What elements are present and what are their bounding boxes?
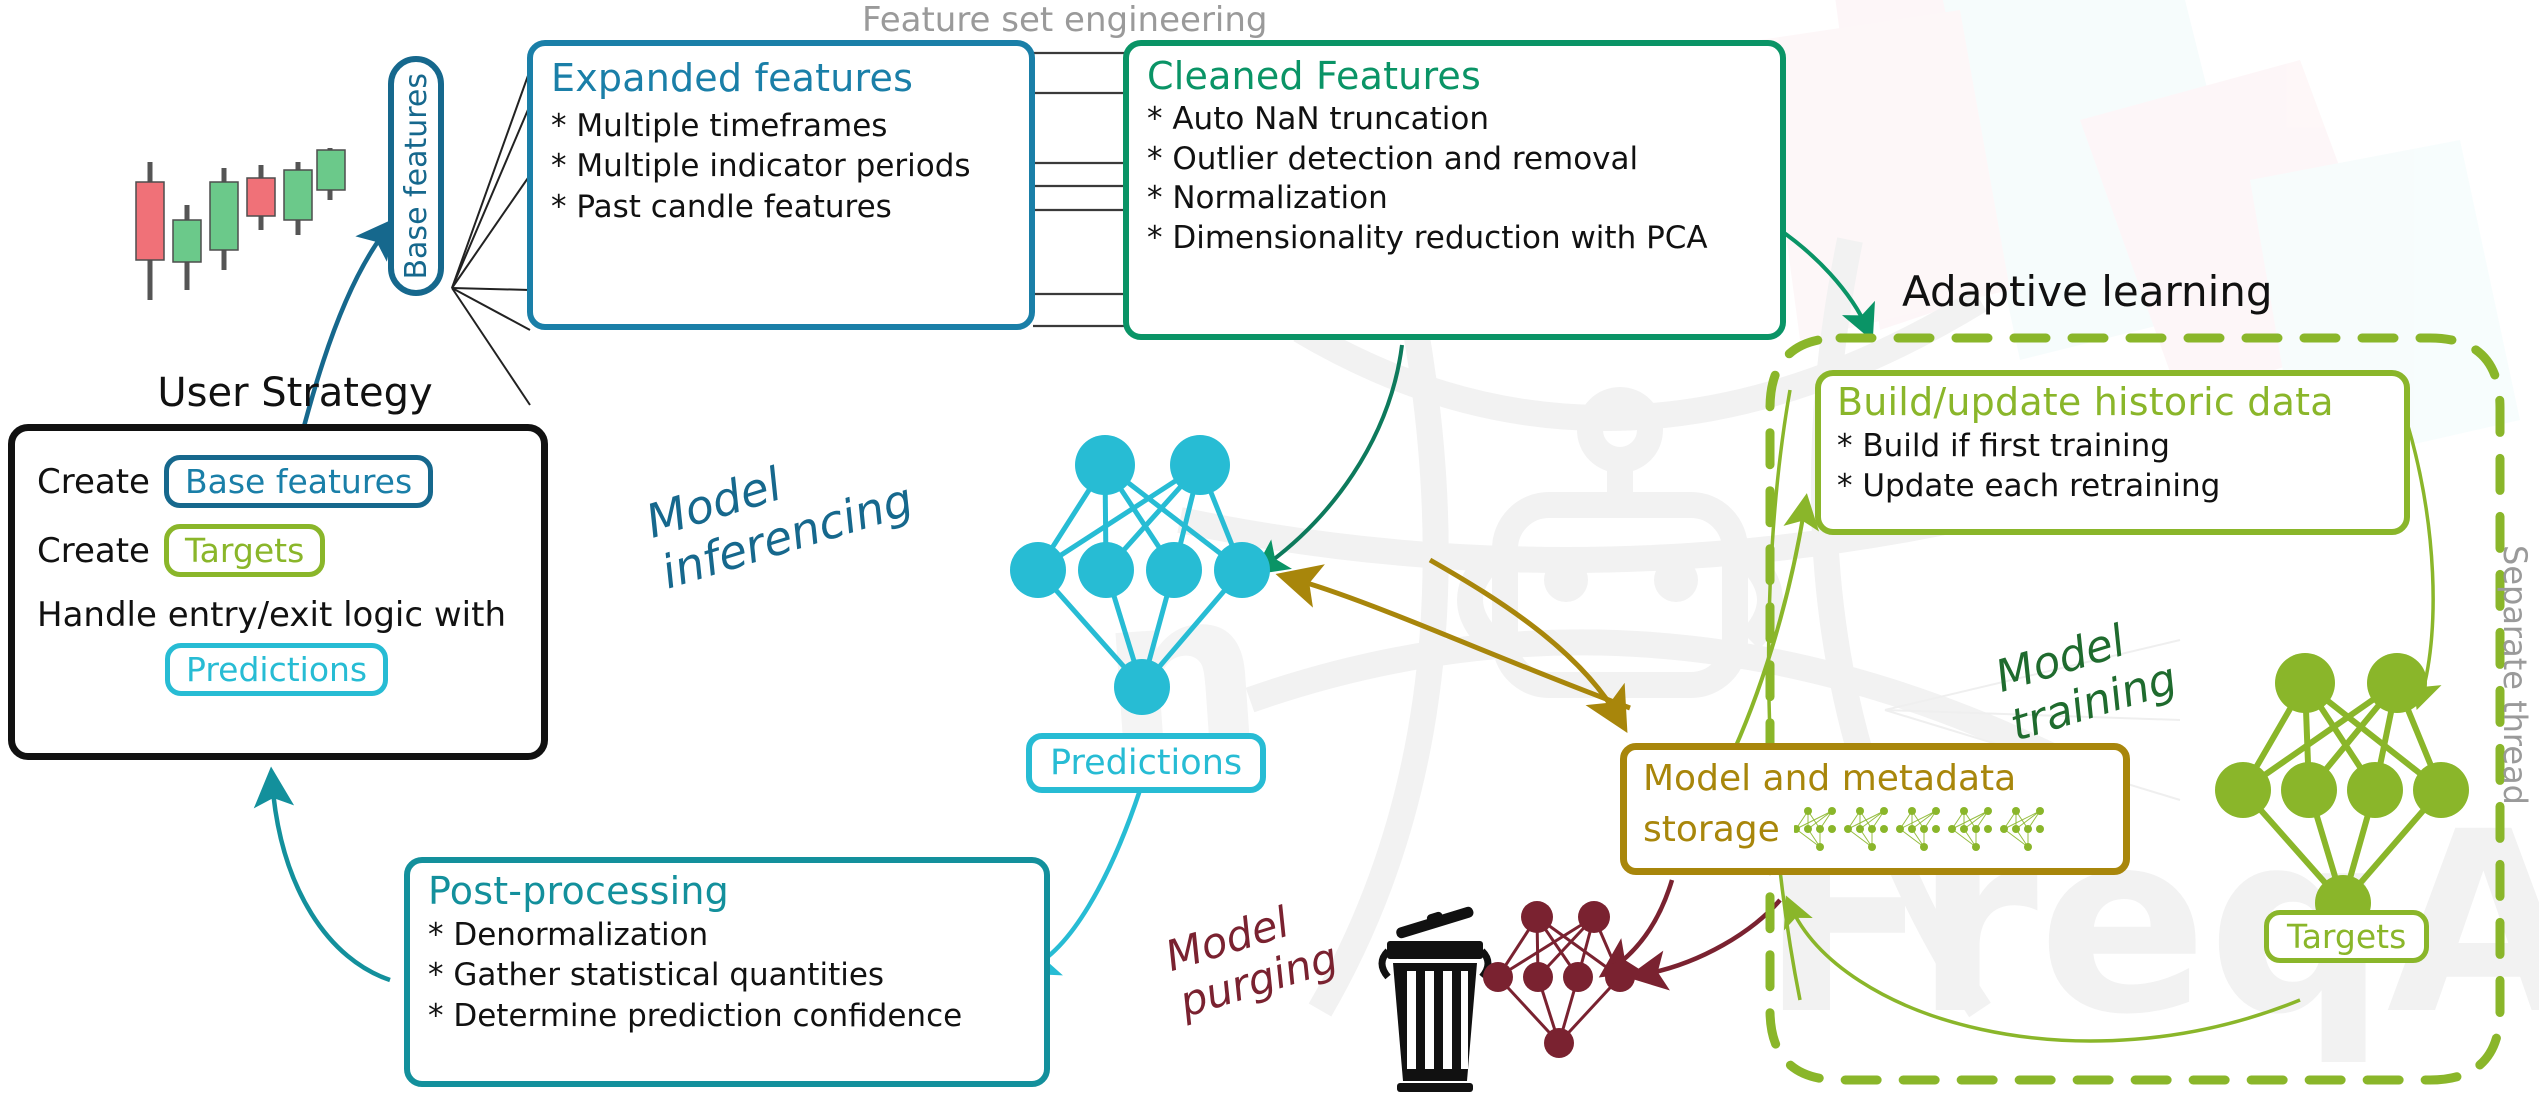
bullet-item: * Denormalization (428, 915, 1044, 955)
predictions-chip-inference[interactable]: Predictions (1026, 733, 1266, 793)
expanded-features-title: Expanded features (551, 56, 1029, 100)
bullet-item: * Outlier detection and removal (1147, 140, 1780, 180)
targets-chip-strategy[interactable]: Targets (164, 524, 325, 577)
expanded-features-box[interactable]: Expanded features * Multiple timeframes … (527, 40, 1035, 330)
candlestick-chart-icon (130, 120, 360, 340)
base-features-chip-strategy-label: Base features (185, 462, 412, 501)
neural-network-cyan-icon (1010, 425, 1310, 735)
targets-chip-training-label: Targets (2287, 917, 2406, 956)
build-update-historic-data-box[interactable]: Build/update historic data * Build if fi… (1815, 370, 2410, 535)
bullet-item: * Normalization (1147, 179, 1780, 219)
post-processing-title: Post-processing (428, 869, 1044, 913)
base-features-chip-label: Base features (399, 73, 434, 280)
bullet-item: * Auto NaN truncation (1147, 100, 1780, 140)
expanded-features-bullets: * Multiple timeframes * Multiple indicat… (551, 106, 1029, 227)
adaptive-learning-label: Adaptive learning (1902, 267, 2273, 316)
cleaned-features-bullets: * Auto NaN truncation * Outlier detectio… (1147, 100, 1780, 259)
post-processing-bullets: * Denormalization * Gather statistical q… (428, 915, 1044, 1036)
bullet-item: * Multiple timeframes (551, 106, 1029, 146)
stacked-neural-net-icon (1794, 801, 2064, 857)
predictions-chip-strategy[interactable]: Predictions (165, 643, 388, 696)
base-features-chip-strategy[interactable]: Base features (164, 455, 433, 508)
build-update-title: Build/update historic data (1837, 380, 2404, 424)
storage-line2: storage (1643, 809, 1780, 850)
bullet-item: * Dimensionality reduction with PCA (1147, 219, 1780, 259)
feature-set-engineering-label: Feature set engineering (862, 0, 1268, 40)
separate-thread-label: Separate thread (2496, 545, 2534, 805)
diagram-canvas: FreqAI n (0, 0, 2539, 1104)
trash-can-icon (1375, 905, 1495, 1095)
storage-line1: Model and metadata (1643, 758, 2123, 799)
neural-network-green-icon (2215, 645, 2505, 950)
bullet-item: * Update each retraining (1837, 466, 2404, 506)
post-processing-box[interactable]: Post-processing * Denormalization * Gath… (404, 857, 1050, 1087)
neural-network-maroon-icon (1480, 895, 1660, 1060)
predictions-chip-strategy-label: Predictions (186, 650, 367, 689)
bullet-item: * Gather statistical quantities (428, 955, 1044, 995)
cleaned-features-box[interactable]: Cleaned Features * Auto NaN truncation *… (1123, 40, 1786, 340)
bullet-item: * Build if first training (1837, 426, 2404, 466)
base-features-chip[interactable]: Base features (388, 56, 444, 296)
model-metadata-storage-box[interactable]: Model and metadata storage (1620, 743, 2130, 875)
targets-chip-strategy-label: Targets (185, 531, 304, 570)
handle-logic-text: Handle entry/exit logic with (37, 595, 541, 635)
cleaned-features-title: Cleaned Features (1147, 54, 1780, 98)
build-update-bullets: * Build if first training * Update each … (1837, 426, 2404, 507)
user-strategy-title: User Strategy (135, 370, 455, 416)
create-base-features-prefix: Create (37, 462, 150, 502)
bullet-item: * Multiple indicator periods (551, 146, 1029, 186)
targets-chip-training[interactable]: Targets (2264, 910, 2429, 963)
predictions-chip-inference-label: Predictions (1050, 743, 1242, 783)
bullet-item: * Determine prediction confidence (428, 996, 1044, 1036)
create-targets-prefix: Create (37, 531, 150, 571)
bullet-item: * Past candle features (551, 187, 1029, 227)
user-strategy-box[interactable]: Create Base features Create Targets Hand… (8, 424, 548, 760)
